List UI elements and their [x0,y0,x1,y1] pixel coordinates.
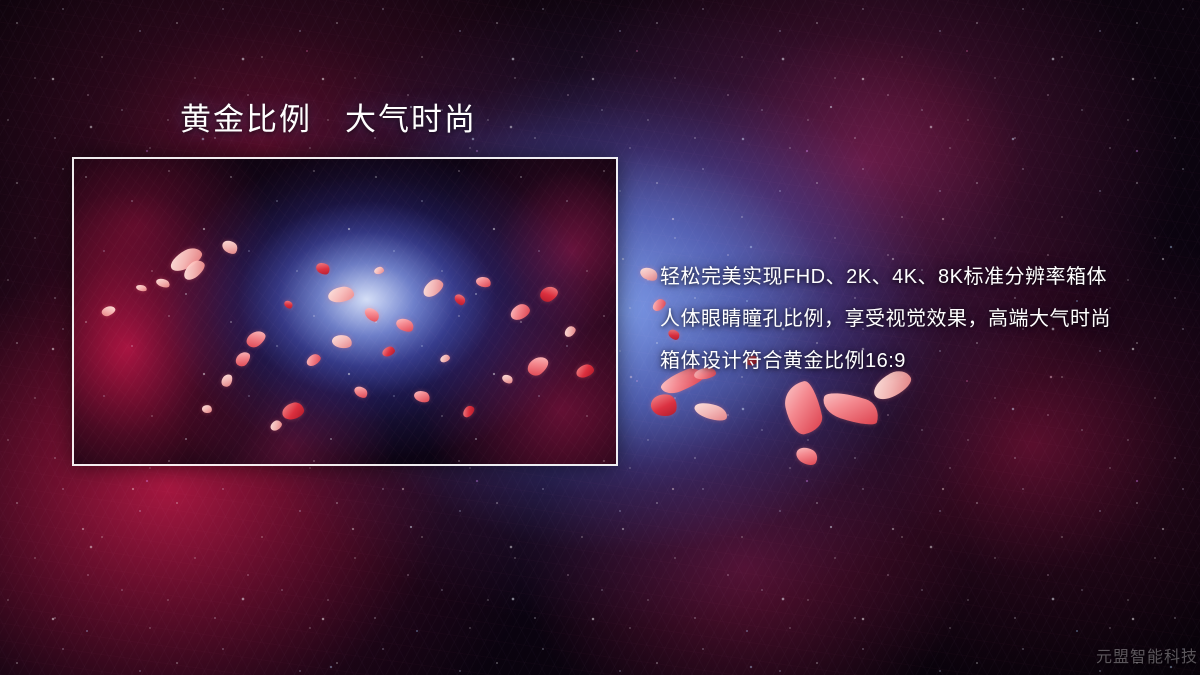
petal-frame-25 [352,384,369,400]
petal-frame-4 [220,237,240,256]
petal-frame-2 [155,277,171,289]
petal-frame-27 [413,389,432,405]
petal-frame-7 [233,349,252,369]
petal-frame-16 [394,316,415,334]
media-frame [72,157,618,466]
petal-frame-11 [331,333,353,349]
petal-background-7 [793,444,820,469]
petal-background-3 [693,399,730,424]
petal-frame-33 [439,353,451,363]
petal-frame-20 [508,301,532,322]
description-line-2: 人体眼睛瞳孔比例，享受视觉效果，高端大气时尚 [660,298,1180,340]
description-line-1: 轻松完美实现FHD、2K、4K、8K标准分辨率箱体 [660,256,1180,298]
petal-frame-26 [269,419,284,433]
petal-frame-23 [524,353,551,379]
description-text-block: 轻松完美实现FHD、2K、4K、8K标准分辨率箱体 人体眼睛瞳孔比例，享受视觉效… [660,256,1180,382]
petal-frame-15 [381,345,396,358]
description-line-3: 箱体设计符合黄金比例16:9 [660,340,1180,382]
petal-frame-5 [100,304,116,318]
petal-frame-18 [453,292,468,307]
petal-background-1 [649,392,679,419]
petal-frame-13 [314,260,332,277]
petal-frame-10 [305,352,323,368]
petal-frame-30 [501,373,515,385]
petal-frame-22 [563,324,578,339]
petal-background-9 [638,265,659,283]
petal-frame-19 [475,275,492,289]
petal-background-5 [819,387,882,430]
petal-frame-3 [135,284,147,293]
petal-frame-29 [201,404,212,414]
petal-frame-8 [220,372,235,388]
petal-frame-9 [280,400,305,421]
petal-frame-28 [461,404,477,420]
company-watermark: 元盟智能科技 [1096,643,1198,667]
slide-title: 黄金比例 大气时尚 [180,101,477,140]
presentation-slide: 黄金比例 大气时尚 轻松完美实现FHD、2K、4K、8K标准分辨率箱体 人体眼睛… [0,0,1200,675]
petal-frame-24 [575,363,596,380]
petal-frame-6 [244,328,268,351]
petal-frame-17 [420,276,446,300]
petal-frame-31 [373,266,384,275]
floating-petals-frame [74,159,616,464]
petal-frame-14 [362,305,381,324]
petal-frame-21 [538,283,561,304]
petal-frame-32 [283,299,294,310]
petal-frame-12 [327,285,355,303]
petal-background-4 [781,379,825,437]
